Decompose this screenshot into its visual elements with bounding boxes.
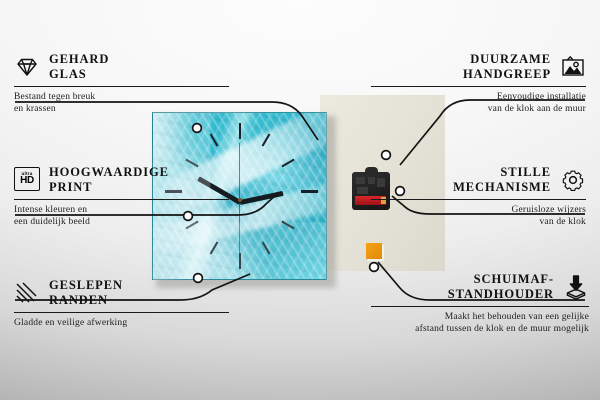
mechanism-detail-4 xyxy=(357,187,368,194)
callout-header: DUURZAME HANDGREEP xyxy=(371,52,586,82)
callout-desc-line1: Geruisloze wijzers xyxy=(371,204,586,216)
callout-gehard-glas[interactable]: GEHARD GLAS Bestand tegen breuk en krass… xyxy=(14,52,229,115)
callout-divider xyxy=(371,86,586,87)
callout-title-line2: HANDGREEP xyxy=(463,67,551,82)
callout-divider xyxy=(371,306,589,307)
foam-spacer xyxy=(366,243,382,259)
callout-desc-line2: van de klok xyxy=(371,216,586,228)
callout-hoogwaardige-print[interactable]: ultra HD HOOGWAARDIGE PRINT Intense kleu… xyxy=(14,165,229,228)
ultra-hd-icon: ultra HD xyxy=(14,167,40,193)
callout-header: GESLEPEN RANDEN xyxy=(14,278,229,308)
diamond-icon xyxy=(14,54,40,80)
callout-title-line2: RANDEN xyxy=(49,293,123,308)
callout-desc-line1: Eenvoudige installatie xyxy=(371,91,586,103)
callout-desc-line2: een duidelijk beeld xyxy=(14,216,229,228)
callout-desc-line2: van de klok aan de muur xyxy=(371,103,586,115)
clock-tick-12 xyxy=(239,123,241,139)
clock-tick-3 xyxy=(301,190,318,193)
callout-divider xyxy=(14,312,229,313)
diagonal-lines-icon xyxy=(14,280,40,306)
clock-center-pin xyxy=(238,198,242,202)
clock-tick-6 xyxy=(239,253,241,269)
callout-title-line1: SCHUIMAF- xyxy=(448,272,554,287)
callout-title-line2: GLAS xyxy=(49,67,109,82)
callout-title-line1: STILLE xyxy=(453,165,551,180)
callout-desc-line1: Bestand tegen breuk xyxy=(14,91,229,103)
spacer-arrow-icon xyxy=(563,274,589,300)
mechanism-detail-1 xyxy=(356,177,365,184)
callout-stille-mechanisme[interactable]: STILLE MECHANISME Geruisloze wijzers van… xyxy=(371,165,586,228)
callout-desc-line1: Maakt het behouden van een gelijke xyxy=(371,311,589,323)
gear-icon xyxy=(560,167,586,193)
callout-title-line2: MECHANISME xyxy=(453,180,551,195)
callout-title-line1: DUURZAME xyxy=(463,52,551,67)
callout-header: STILLE MECHANISME xyxy=(371,165,586,195)
callout-header: GEHARD GLAS xyxy=(14,52,229,82)
callout-title-line1: GESLEPEN xyxy=(49,278,123,293)
callout-desc-line1: Intense kleuren en xyxy=(14,204,229,216)
callout-divider xyxy=(371,199,586,200)
callout-title-line1: GEHARD xyxy=(49,52,109,67)
callout-geslepen-randen[interactable]: GESLEPEN RANDEN Gladde en veilige afwerk… xyxy=(14,278,229,329)
callout-title-line2: PRINT xyxy=(49,180,169,195)
callout-title-line2: STANDHOUDER xyxy=(448,287,554,302)
picture-frame-icon xyxy=(560,54,586,80)
callout-schuimafstandhouder[interactable]: SCHUIMAF- STANDHOUDER Maakt het behouden… xyxy=(371,272,589,335)
callout-header: ultra HD HOOGWAARDIGE PRINT xyxy=(14,165,229,195)
callout-duurzame-handgreep[interactable]: DUURZAME HANDGREEP Eenvoudige installati… xyxy=(371,52,586,115)
ultra-hd-icon-main-text: HD xyxy=(20,176,34,186)
callout-title-line1: HOOGWAARDIGE xyxy=(49,165,169,180)
callout-divider xyxy=(14,199,229,200)
callout-header: SCHUIMAF- STANDHOUDER xyxy=(371,272,589,302)
callout-divider xyxy=(14,86,229,87)
infographic-canvas: GEHARD GLAS Bestand tegen breuk en krass… xyxy=(0,0,600,400)
callout-desc-line2: afstand tussen de klok en de muur mogeli… xyxy=(371,323,589,335)
callout-desc-line1: Gladde en veilige afwerking xyxy=(14,317,229,329)
callout-desc-line2: en krassen xyxy=(14,103,229,115)
